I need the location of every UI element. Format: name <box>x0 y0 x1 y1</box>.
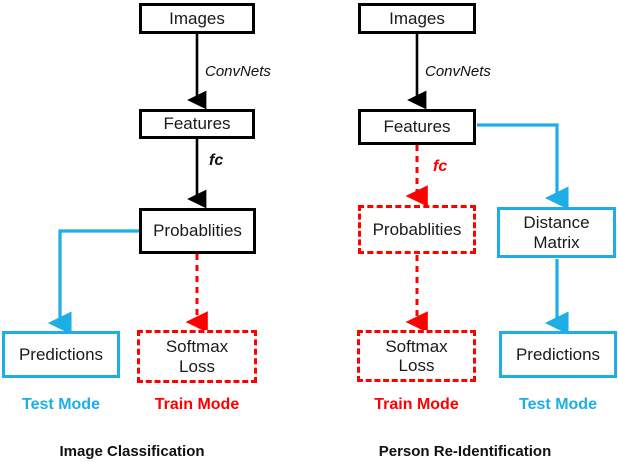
node-predictions-right-label: Predictions <box>516 345 600 364</box>
edge-probabilities-to-predictions-left <box>60 231 139 323</box>
node-features-left-label: Features <box>163 114 230 133</box>
edge-label-convnets-left: ConvNets <box>205 63 271 80</box>
node-features-right-label: Features <box>383 117 450 136</box>
mode-label-test-left: Test Mode <box>2 396 120 414</box>
node-predictions-right[interactable]: Predictions <box>499 331 617 378</box>
node-features-left[interactable]: Features <box>139 109 255 139</box>
node-softmax-loss-right[interactable]: Softmax Loss <box>357 330 476 382</box>
mode-label-train-left: Train Mode <box>137 396 257 414</box>
node-probabilities-right[interactable]: Probablities <box>358 205 476 254</box>
node-softmax-loss-left[interactable]: Softmax Loss <box>137 330 257 383</box>
node-images-left[interactable]: Images <box>139 3 255 34</box>
node-predictions-left[interactable]: Predictions <box>2 331 120 378</box>
node-images-left-label: Images <box>169 9 225 28</box>
node-distance-matrix-right[interactable]: Distance Matrix <box>497 207 616 258</box>
panel-caption-person-re-identification: Person Re-Identification <box>345 443 585 460</box>
node-images-right[interactable]: Images <box>358 3 476 34</box>
node-probabilities-right-label: Probablities <box>373 220 462 239</box>
panel-caption-image-classification: Image Classification <box>22 443 242 460</box>
edge-label-fc-right: fc <box>433 158 447 176</box>
node-probabilities-left-label: Probablities <box>153 221 242 240</box>
edge-features-to-distance-matrix-right <box>477 125 557 198</box>
node-distance-matrix-right-label-line1: Distance <box>523 213 589 232</box>
node-distance-matrix-right-label-line2: Matrix <box>533 233 579 252</box>
node-softmax-loss-right-label-line1: Softmax <box>385 337 447 356</box>
node-softmax-loss-left-label-line1: Softmax <box>166 337 228 356</box>
node-features-right[interactable]: Features <box>358 109 476 145</box>
mode-label-test-right: Test Mode <box>499 396 617 414</box>
mode-label-train-right: Train Mode <box>357 396 476 414</box>
node-softmax-loss-left-label-line2: Loss <box>179 357 215 376</box>
node-softmax-loss-right-label-line2: Loss <box>399 356 435 375</box>
node-probabilities-left[interactable]: Probablities <box>139 208 256 254</box>
edge-label-convnets-right: ConvNets <box>425 63 491 80</box>
node-images-right-label: Images <box>389 9 445 28</box>
node-predictions-left-label: Predictions <box>19 345 103 364</box>
edge-label-fc-left: fc <box>209 152 223 170</box>
diagram-canvas: Images ConvNets Features fc Probablities… <box>0 0 618 468</box>
